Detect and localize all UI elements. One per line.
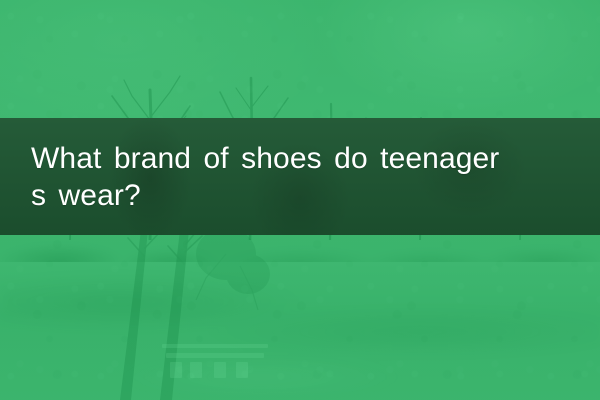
screenshot-canvas: What brand of shoes do teenager s wear? bbox=[0, 0, 600, 400]
caption-question-text: What brand of shoes do teenager s wear? bbox=[31, 140, 597, 214]
caption-banner: What brand of shoes do teenager s wear? bbox=[0, 118, 600, 235]
